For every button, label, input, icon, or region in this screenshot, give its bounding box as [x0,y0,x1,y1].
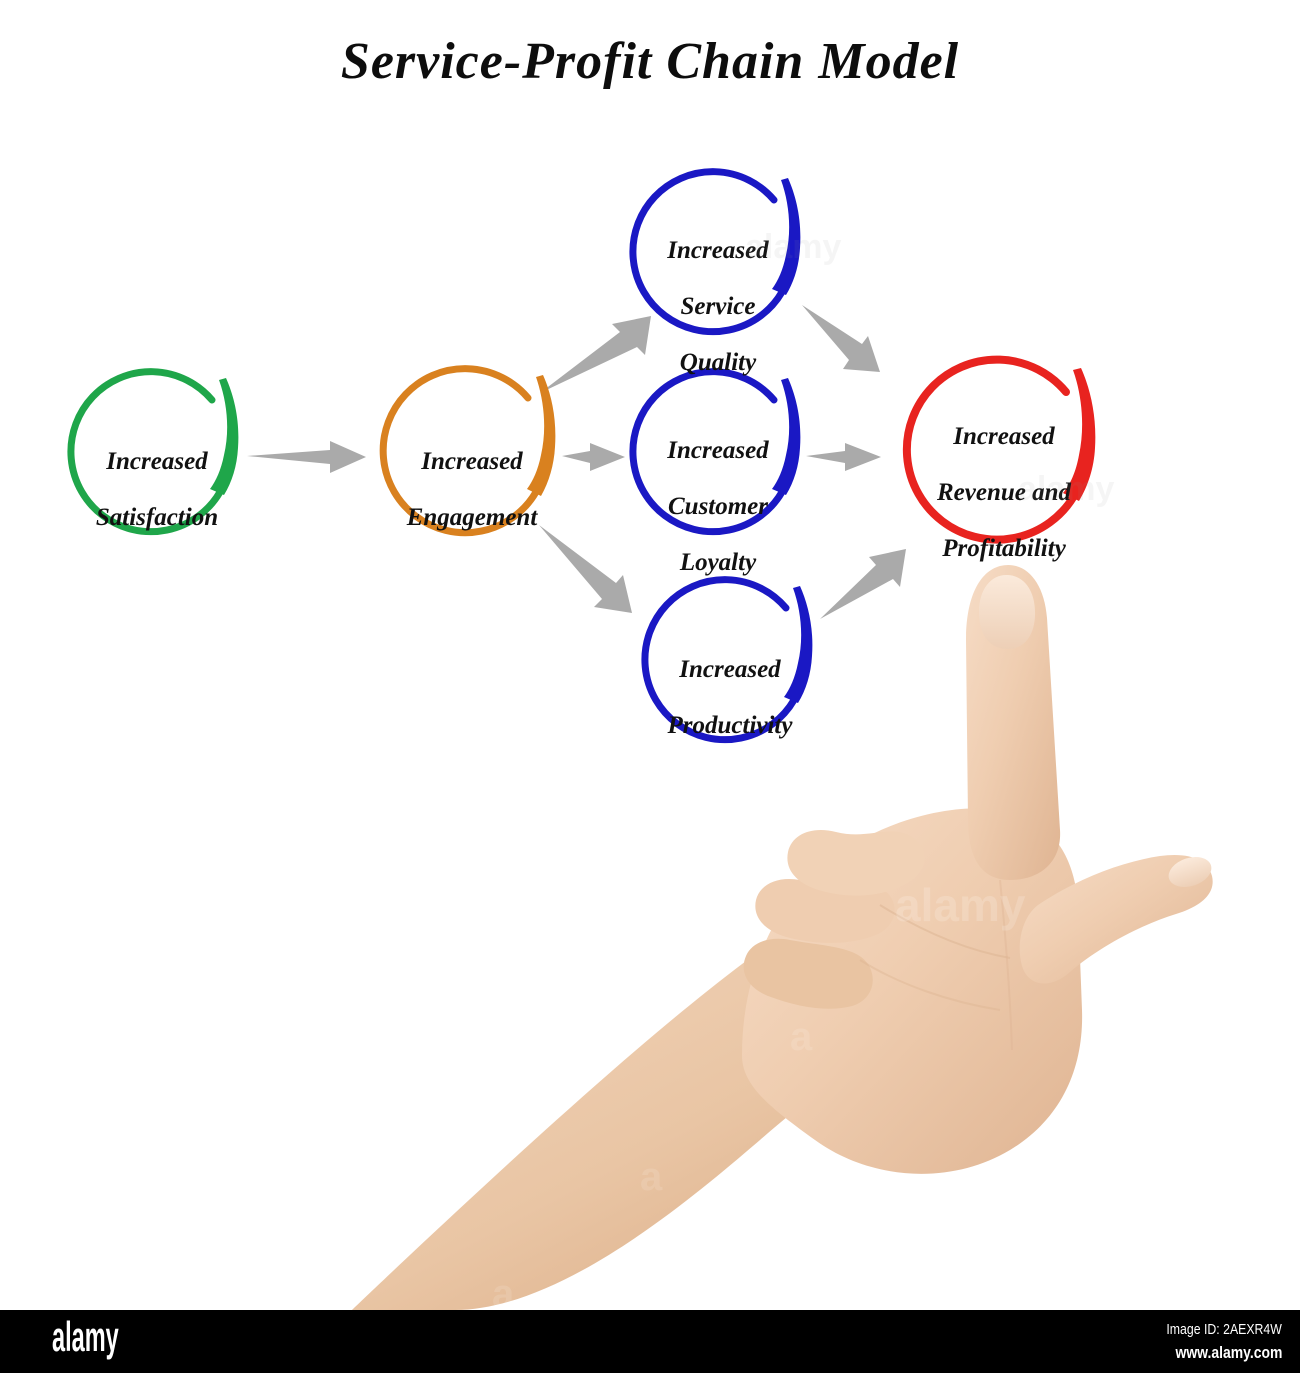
node-circle-revenue [907,360,1095,540]
alamy-url-text[interactable]: www.alamy.com [1175,1343,1282,1363]
image-id-text: Image ID: 2AEXR4W [1166,1321,1282,1338]
arrow-satisfaction-to-engagement [247,441,366,473]
node-circle-customer-loyalty [633,372,800,532]
diagram-svg [0,0,1300,1310]
node-circle-satisfaction [71,372,238,532]
stock-footer-bar: alamy Image ID: 2AEXR4W www.alamy.com [0,1310,1300,1373]
arrow-engagement-to-service-quality [540,316,651,393]
arrow-productivity-to-revenue [820,549,906,619]
screenshot-root: Service-Profit Chain Model [0,0,1300,1373]
arrow-customer-loyalty-to-revenue [806,443,881,471]
edge-arrows [247,305,906,619]
arrow-engagement-to-productivity [539,525,632,613]
node-circle-engagement [383,369,555,533]
diagram-canvas: Service-Profit Chain Model [0,0,1300,1310]
alamy-logo[interactable]: alamy [52,1316,119,1358]
node-circle-service-quality [633,172,800,332]
arrow-engagement-to-customer-loyalty [562,443,625,471]
pointing-hand-illustration [352,565,1215,1310]
node-circle-productivity [645,580,812,740]
arrow-service-quality-to-revenue [802,305,880,372]
